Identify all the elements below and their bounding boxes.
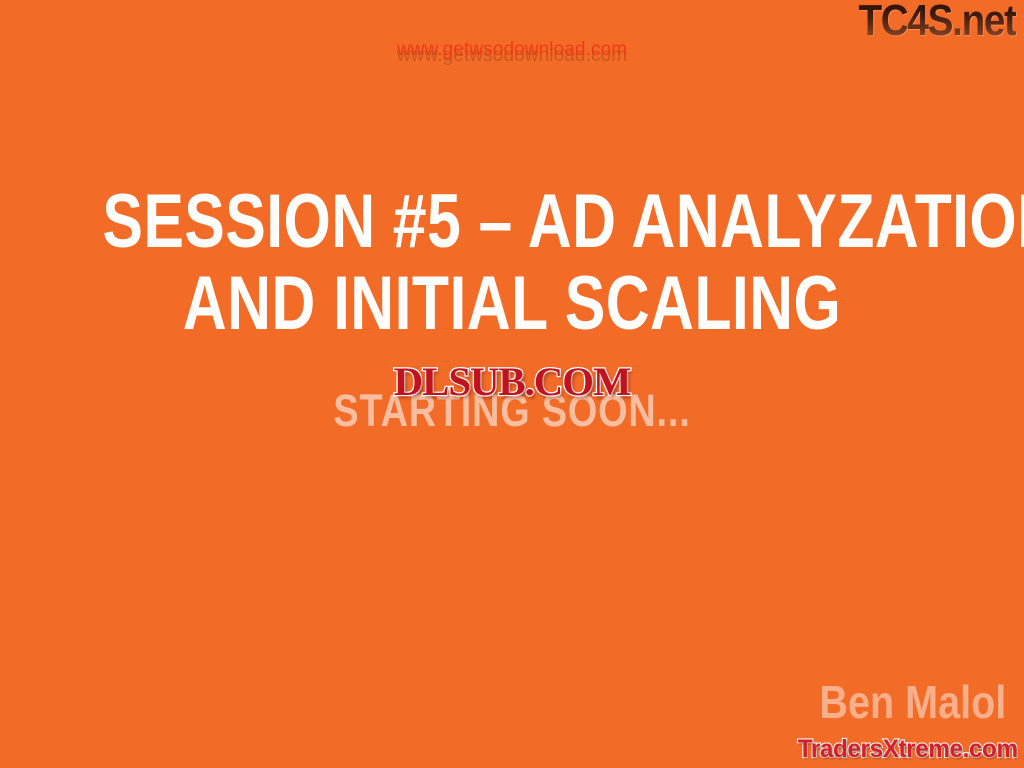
tc4s-logo: TC4S.net — [859, 0, 1016, 44]
watermark-top-center-text: www.getwsodownload.com — [397, 39, 627, 60]
presenter-name: Ben Malol — [819, 678, 1006, 726]
watermark-bottom-right: TradersXtreme.com — [798, 734, 1018, 764]
title-line-2: AND INITIAL SCALING — [102, 263, 921, 345]
slide-canvas: www.getwsodownload.com www.getwsodownloa… — [0, 0, 1024, 768]
status-text-starting-soon: STARTING SOON... — [82, 387, 942, 435]
title-line-1: SESSION #5 – AD ANALYZATION — [102, 181, 921, 263]
watermark-top-center-ghost: www.getwsodownload.com — [0, 46, 1024, 65]
page-title: SESSION #5 – AD ANALYZATION AND INITIAL … — [0, 181, 1024, 345]
